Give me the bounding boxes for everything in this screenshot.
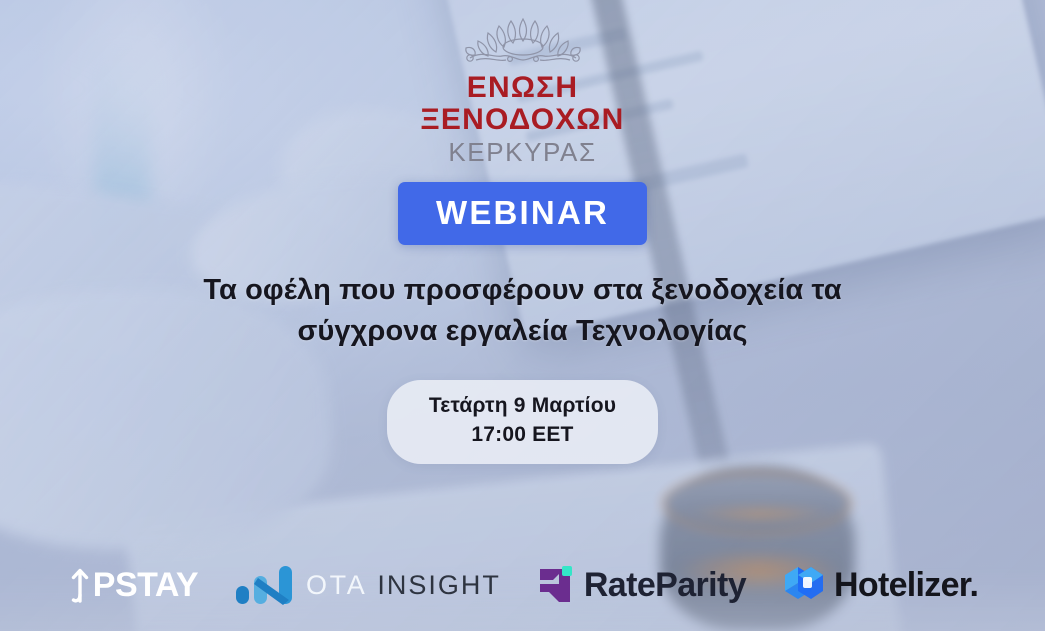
time-line: 17:00 EET (429, 421, 616, 450)
ota-word: OTA (306, 570, 367, 601)
webinar-badge-wrap: WEBINAR (0, 182, 1045, 245)
crown-ornament-icon (448, 14, 598, 66)
ota-insight-n-icon (234, 564, 296, 606)
date-pill-wrap: Τετάρτη 9 Μαρτίου 17:00 EET (0, 380, 1045, 464)
sponsor-logo-upstay[interactable]: PSTAY (67, 565, 198, 605)
date-line: Τετάρτη 9 Μαρτίου (429, 392, 616, 421)
rateparity-wordmark: RateParity (584, 568, 746, 602)
association-name-line2: ΞΕΝΟΔΟΧΩΝ (0, 104, 1045, 136)
association-logo: ΕΝΩΣΗ ΞΕΝΟΔΟΧΩΝ ΚΕΡΚΥΡΑΣ (0, 14, 1045, 167)
sponsor-logo-hotelizer[interactable]: Hotelizer. (782, 563, 978, 607)
page-title: Τα οφέλη που προσφέρουν στα ξενοδοχεία τ… (0, 270, 1045, 352)
association-name-line3: ΚΕΡΚΥΡΑΣ (0, 137, 1045, 168)
hotelizer-wordmark: Hotelizer. (834, 568, 978, 602)
sponsor-logo-strip: PSTAY OTA INSIGHT (0, 563, 1045, 607)
title-line-1: Τα οφέλη που προσφέρουν στα ξενοδοχεία τ… (0, 270, 1045, 311)
poster-content: ΕΝΩΣΗ ΞΕΝΟΔΟΧΩΝ ΚΕΡΚΥΡΑΣ WEBINAR Τα οφέλ… (0, 0, 1045, 631)
webinar-badge[interactable]: WEBINAR (398, 182, 647, 245)
association-name-line1: ΕΝΩΣΗ (0, 72, 1045, 104)
rateparity-arrow-icon (537, 564, 577, 606)
sponsor-logo-rateparity[interactable]: RateParity (537, 564, 746, 606)
hotelizer-cube-icon (782, 563, 826, 607)
date-pill: Τετάρτη 9 Μαρτίου 17:00 EET (387, 380, 658, 464)
insight-word: INSIGHT (377, 570, 501, 601)
sponsor-logo-ota-insight[interactable]: OTA INSIGHT (234, 564, 501, 606)
upstay-arrow-icon (67, 565, 93, 605)
title-line-2: σύγχρονα εργαλεία Τεχνολογίας (0, 311, 1045, 352)
upstay-wordmark: PSTAY (93, 568, 198, 602)
webinar-poster: ΕΝΩΣΗ ΞΕΝΟΔΟΧΩΝ ΚΕΡΚΥΡΑΣ WEBINAR Τα οφέλ… (0, 0, 1045, 631)
